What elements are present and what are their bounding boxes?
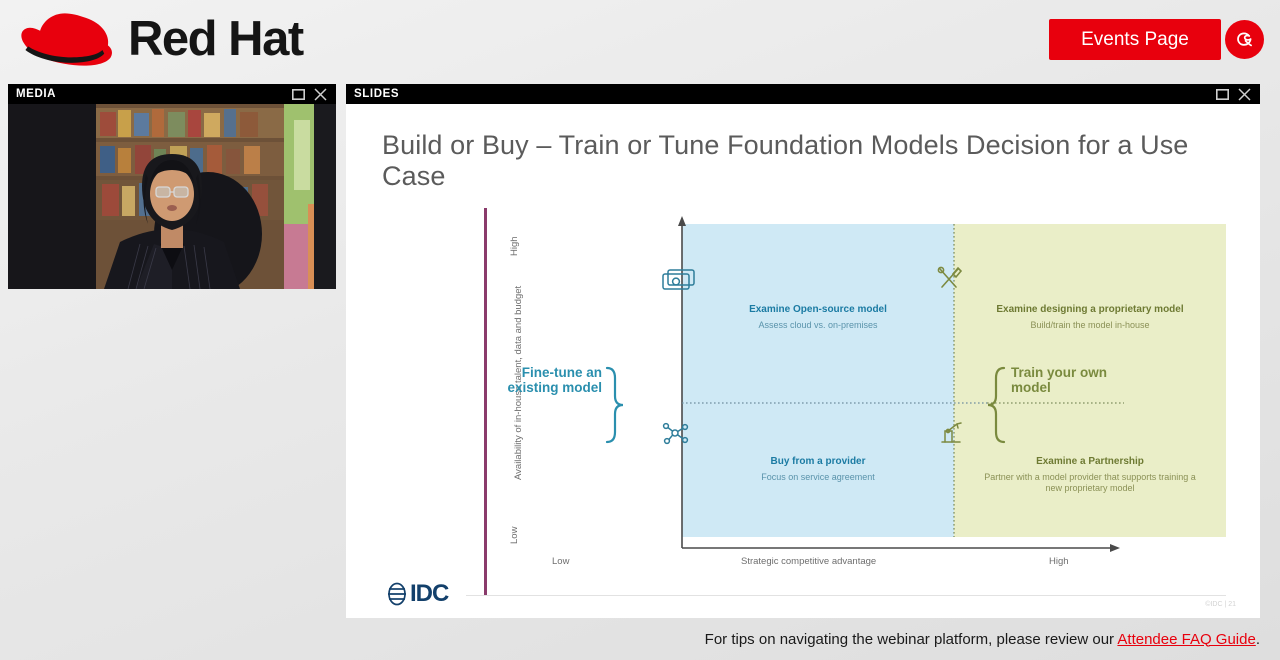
minimize-icon[interactable] bbox=[1215, 87, 1230, 101]
y-axis-tick-high: High bbox=[509, 236, 520, 256]
shadowman-glyph-icon bbox=[1232, 27, 1258, 53]
slides-panel: SLIDES Build or Buy – Train or Tune Foun… bbox=[346, 84, 1260, 618]
idc-wordmark: IDC bbox=[410, 580, 448, 608]
slides-panel-title: SLIDES bbox=[354, 88, 399, 100]
media-panel: MEDIA bbox=[8, 84, 336, 289]
red-hat-shadowman-badge-icon[interactable] bbox=[1225, 20, 1264, 59]
brand-logo[interactable]: Red Hat bbox=[8, 6, 303, 72]
slides-panel-controls bbox=[1215, 87, 1252, 101]
quadrant-bottom-left-subtitle: Focus on service agreement bbox=[682, 472, 954, 483]
slide-footer-rule bbox=[466, 595, 1226, 596]
quadrant-top-right-subtitle: Build/train the model in-house bbox=[954, 320, 1226, 331]
network-nodes-icon bbox=[664, 424, 688, 444]
slides-panel-titlebar: SLIDES bbox=[346, 84, 1260, 104]
y-axis-tick-low: Low bbox=[509, 527, 520, 544]
cash-banknotes-icon bbox=[663, 270, 694, 289]
slide-canvas[interactable]: Build or Buy – Train or Tune Foundation … bbox=[346, 104, 1260, 618]
close-icon[interactable] bbox=[313, 87, 328, 101]
slide-title: Build or Buy – Train or Tune Foundation … bbox=[382, 130, 1232, 192]
footer-text-after: . bbox=[1256, 631, 1260, 648]
group-label-train-own: Train your own model bbox=[1011, 365, 1116, 395]
decision-matrix-chart: High Low Availability of in-house talent… bbox=[487, 208, 1124, 596]
speaker-video-image bbox=[8, 104, 336, 289]
quadrant-bottom-right-title: Examine a Partnership bbox=[954, 456, 1226, 467]
attendee-faq-guide-link[interactable]: Attendee FAQ Guide bbox=[1117, 631, 1255, 648]
matrix-axes-svg bbox=[487, 208, 1124, 596]
group-label-fine-tune: Fine-tune an existing model bbox=[497, 365, 602, 395]
red-hat-fedora-icon bbox=[8, 6, 118, 72]
media-panel-titlebar: MEDIA bbox=[8, 84, 336, 104]
footer-text-before: For tips on navigating the webinar platf… bbox=[705, 631, 1118, 648]
page-header: Red Hat Events Page bbox=[0, 0, 1280, 82]
events-page-button[interactable]: Events Page bbox=[1049, 19, 1221, 60]
crossed-tools-icon bbox=[938, 267, 961, 287]
page-footer: For tips on navigating the webinar platf… bbox=[0, 618, 1280, 660]
media-video-feed[interactable] bbox=[8, 104, 336, 289]
idc-source-logo: IDC bbox=[384, 580, 448, 608]
idc-globe-icon bbox=[384, 581, 410, 607]
quadrant-top-left-subtitle: Assess cloud vs. on-premises bbox=[682, 320, 954, 331]
media-panel-title: MEDIA bbox=[16, 88, 56, 100]
quadrant-top-left-title: Examine Open-source model bbox=[682, 304, 954, 315]
robot-arm-icon bbox=[942, 423, 961, 442]
quadrant-bottom-left-title: Buy from a provider bbox=[682, 456, 954, 467]
quadrant-top-right-title: Examine designing a proprietary model bbox=[954, 304, 1226, 315]
minimize-icon[interactable] bbox=[291, 87, 306, 101]
x-axis-label: Strategic competitive advantage bbox=[741, 556, 876, 567]
slide-page-marker: ©IDC | 21 bbox=[1205, 601, 1236, 608]
footer-message: For tips on navigating the webinar platf… bbox=[705, 631, 1260, 648]
close-icon[interactable] bbox=[1237, 87, 1252, 101]
x-axis-tick-high: High bbox=[1049, 556, 1069, 567]
media-panel-controls bbox=[291, 87, 328, 101]
quadrant-bottom-right-subtitle: Partner with a model provider that suppo… bbox=[984, 472, 1196, 495]
x-axis-tick-low: Low bbox=[552, 556, 569, 567]
brand-name: Red Hat bbox=[128, 11, 303, 67]
